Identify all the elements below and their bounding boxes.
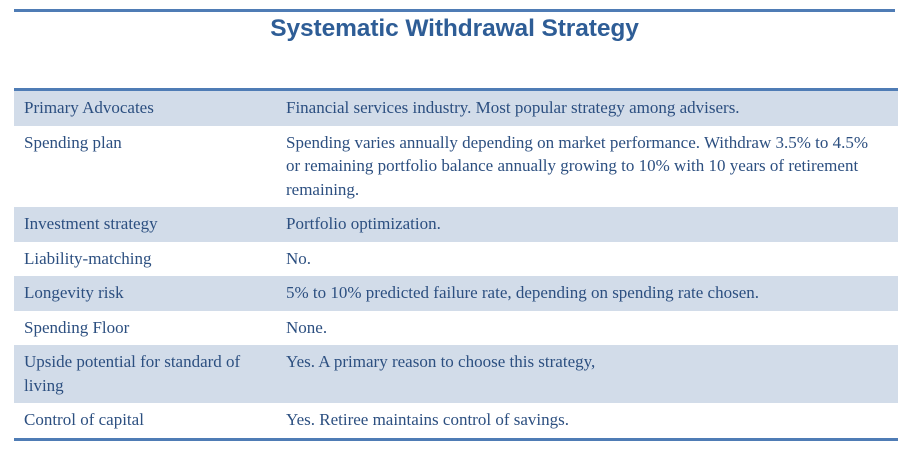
table-row: Liability-matching No.: [14, 242, 898, 277]
page-title: Systematic Withdrawal Strategy: [14, 15, 895, 43]
strategy-table-container: Primary Advocates Financial services ind…: [14, 88, 898, 441]
table-row: Control of capital Yes. Retiree maintain…: [14, 403, 898, 439]
row-label: Upside potential for standard of living: [14, 345, 285, 403]
row-value: Spending varies annually depending on ma…: [285, 126, 898, 208]
table-row: Primary Advocates Financial services ind…: [14, 90, 898, 126]
table-row: Longevity risk 5% to 10% predicted failu…: [14, 276, 898, 311]
row-label: Spending plan: [14, 126, 285, 208]
document-page: Systematic Withdrawal Strategy Primary A…: [0, 0, 911, 457]
row-value: 5% to 10% predicted failure rate, depend…: [285, 276, 898, 311]
table-row: Upside potential for standard of living …: [14, 345, 898, 403]
strategy-table: Primary Advocates Financial services ind…: [14, 88, 898, 441]
row-label: Longevity risk: [14, 276, 285, 311]
row-value: Financial services industry. Most popula…: [285, 90, 898, 126]
strategy-table-body: Primary Advocates Financial services ind…: [14, 90, 898, 440]
row-label: Primary Advocates: [14, 90, 285, 126]
row-label: Liability-matching: [14, 242, 285, 277]
row-label: Spending Floor: [14, 311, 285, 346]
row-value: None.: [285, 311, 898, 346]
row-value: Portfolio optimization.: [285, 207, 898, 242]
row-value: No.: [285, 242, 898, 277]
row-value: Yes. Retiree maintains control of saving…: [285, 403, 898, 439]
row-value: Yes. A primary reason to choose this str…: [285, 345, 898, 403]
row-label: Control of capital: [14, 403, 285, 439]
title-top-rule: [14, 9, 895, 12]
row-label: Investment strategy: [14, 207, 285, 242]
table-row: Spending plan Spending varies annually d…: [14, 126, 898, 208]
table-row: Spending Floor None.: [14, 311, 898, 346]
table-row: Investment strategy Portfolio optimizati…: [14, 207, 898, 242]
